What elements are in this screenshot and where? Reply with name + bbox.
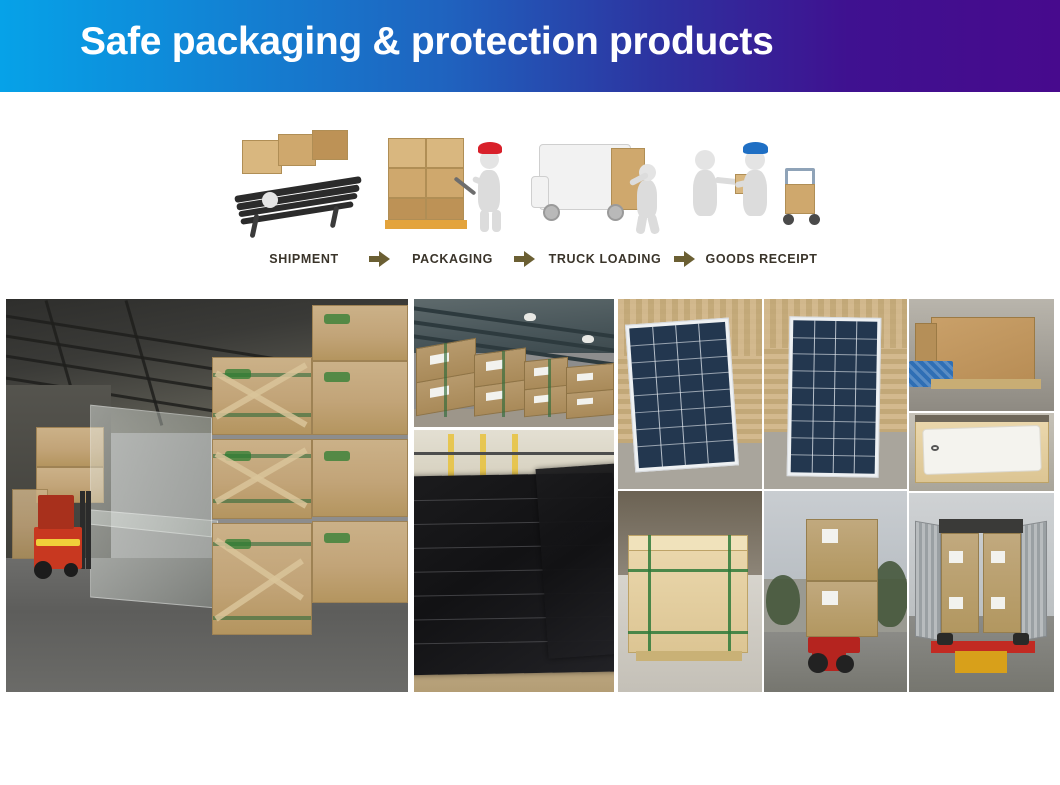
- gallery-photo-container: [909, 493, 1054, 692]
- gallery-photo-cartons: [414, 299, 614, 427]
- gallery-photo-carton-pallet: [909, 299, 1054, 411]
- photo-gallery: [0, 0, 1060, 785]
- gallery-photo-bluepanel-b: [764, 299, 907, 489]
- gallery-photo-forklift: [764, 491, 907, 692]
- gallery-photo-warehouse: [6, 299, 408, 692]
- gallery-photo-bluepanel-a: [618, 299, 762, 489]
- gallery-photo-blackpanel: [414, 430, 614, 692]
- gallery-photo-crate-box: [618, 491, 762, 692]
- gallery-photo-white-panel: [909, 413, 1054, 491]
- slide-page: Safe packaging & protection products: [0, 0, 1060, 785]
